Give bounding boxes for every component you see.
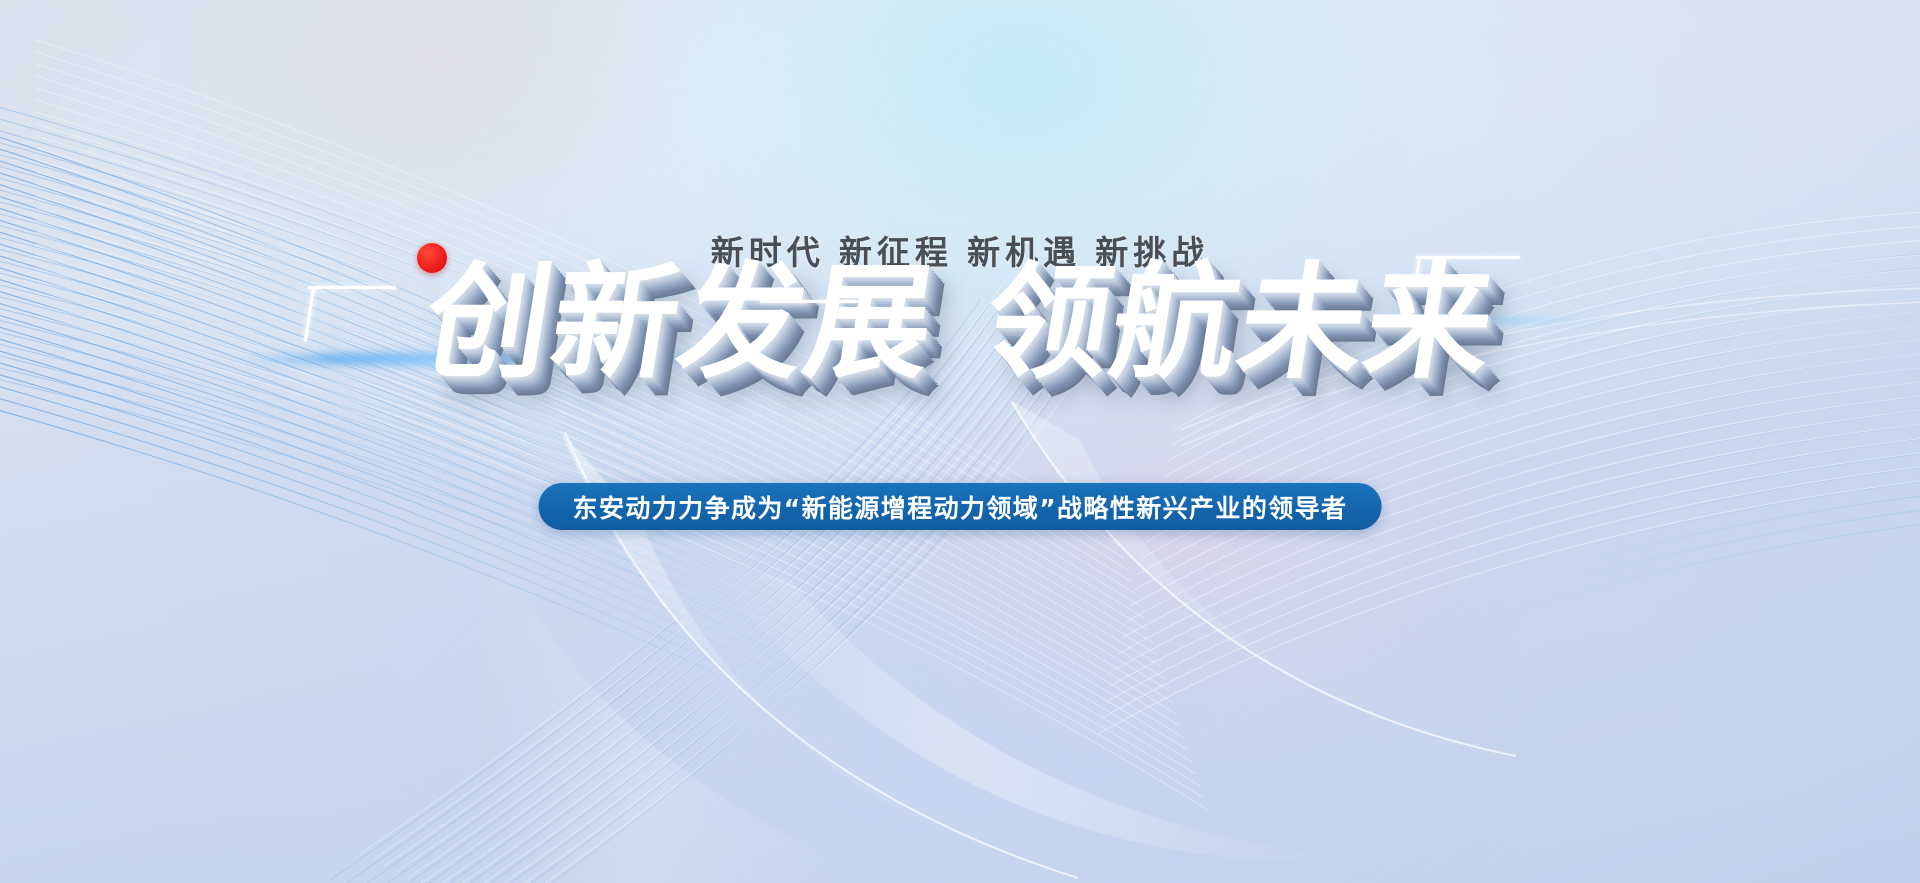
headline-phrase-right: 领航未来 xyxy=(975,251,1506,396)
banner-canvas: 新时代 新征程 新机遇 新挑战 创新发展领航未来 东安动力力争成为“新能源增程动… xyxy=(0,0,1920,883)
red-dot-accent-icon xyxy=(417,243,447,273)
headline-block: 创新发展领航未来 xyxy=(0,238,1920,408)
headline-phrase-left: 创新发展 xyxy=(415,251,946,396)
tagline-text: 东安动力力争成为“新能源增程动力领域”战略性新兴产业的领导者 xyxy=(573,489,1348,525)
tagline-pill: 东安动力力争成为“新能源增程动力领域”战略性新兴产业的领导者 xyxy=(539,483,1382,530)
headline-text: 创新发展领航未来 xyxy=(416,261,1504,386)
banner-content: 新时代 新征程 新机遇 新挑战 创新发展领航未来 东安动力力争成为“新能源增程动… xyxy=(0,0,1920,883)
